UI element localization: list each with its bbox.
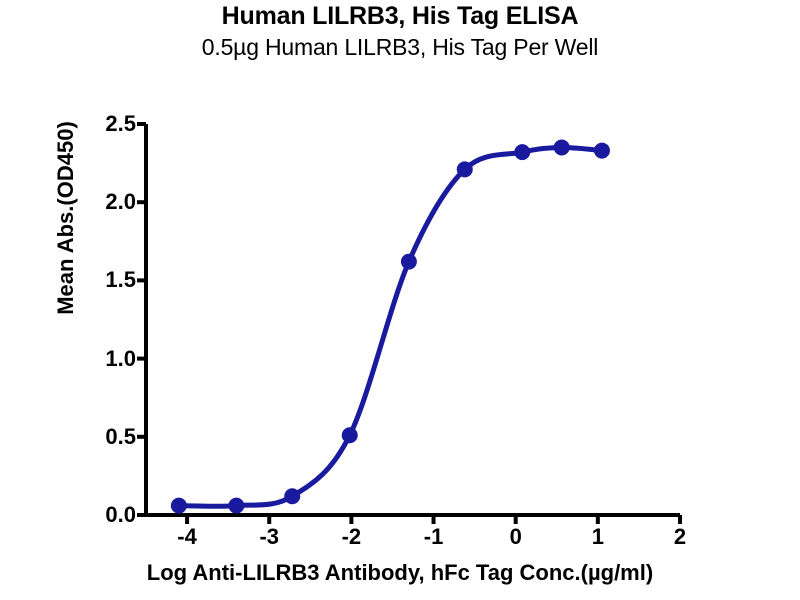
elisa-chart-figure: Human LILRB3, His Tag ELISA 0.5µg Human … bbox=[0, 0, 800, 600]
data-point-marker bbox=[401, 254, 417, 270]
x-tick-label: -4 bbox=[177, 524, 197, 550]
data-point-marker bbox=[457, 161, 473, 177]
data-point-marker bbox=[514, 144, 530, 160]
data-point-marker bbox=[228, 498, 244, 514]
series-line bbox=[179, 147, 602, 506]
data-point-marker bbox=[284, 488, 300, 504]
data-point-marker bbox=[554, 139, 570, 155]
x-tick-label: 2 bbox=[674, 524, 686, 550]
x-tick-label: 1 bbox=[592, 524, 604, 550]
y-tick-label: 1.0 bbox=[70, 346, 136, 372]
x-tick-label: -1 bbox=[424, 524, 444, 550]
x-tick-label: -2 bbox=[342, 524, 362, 550]
data-point-marker bbox=[171, 498, 187, 514]
y-tick-label: 2.5 bbox=[70, 111, 136, 137]
axis-ticks bbox=[137, 124, 680, 524]
x-tick-label: -3 bbox=[259, 524, 279, 550]
axis-lines bbox=[146, 124, 680, 515]
y-tick-label: 2.0 bbox=[70, 189, 136, 215]
y-tick-label: 1.5 bbox=[70, 267, 136, 293]
data-point-marker bbox=[594, 143, 610, 159]
y-tick-label: 0.5 bbox=[70, 424, 136, 450]
data-point-marker bbox=[342, 427, 358, 443]
x-tick-label: 0 bbox=[510, 524, 522, 550]
y-tick-label: 0.0 bbox=[70, 502, 136, 528]
data-series-group bbox=[171, 139, 610, 513]
